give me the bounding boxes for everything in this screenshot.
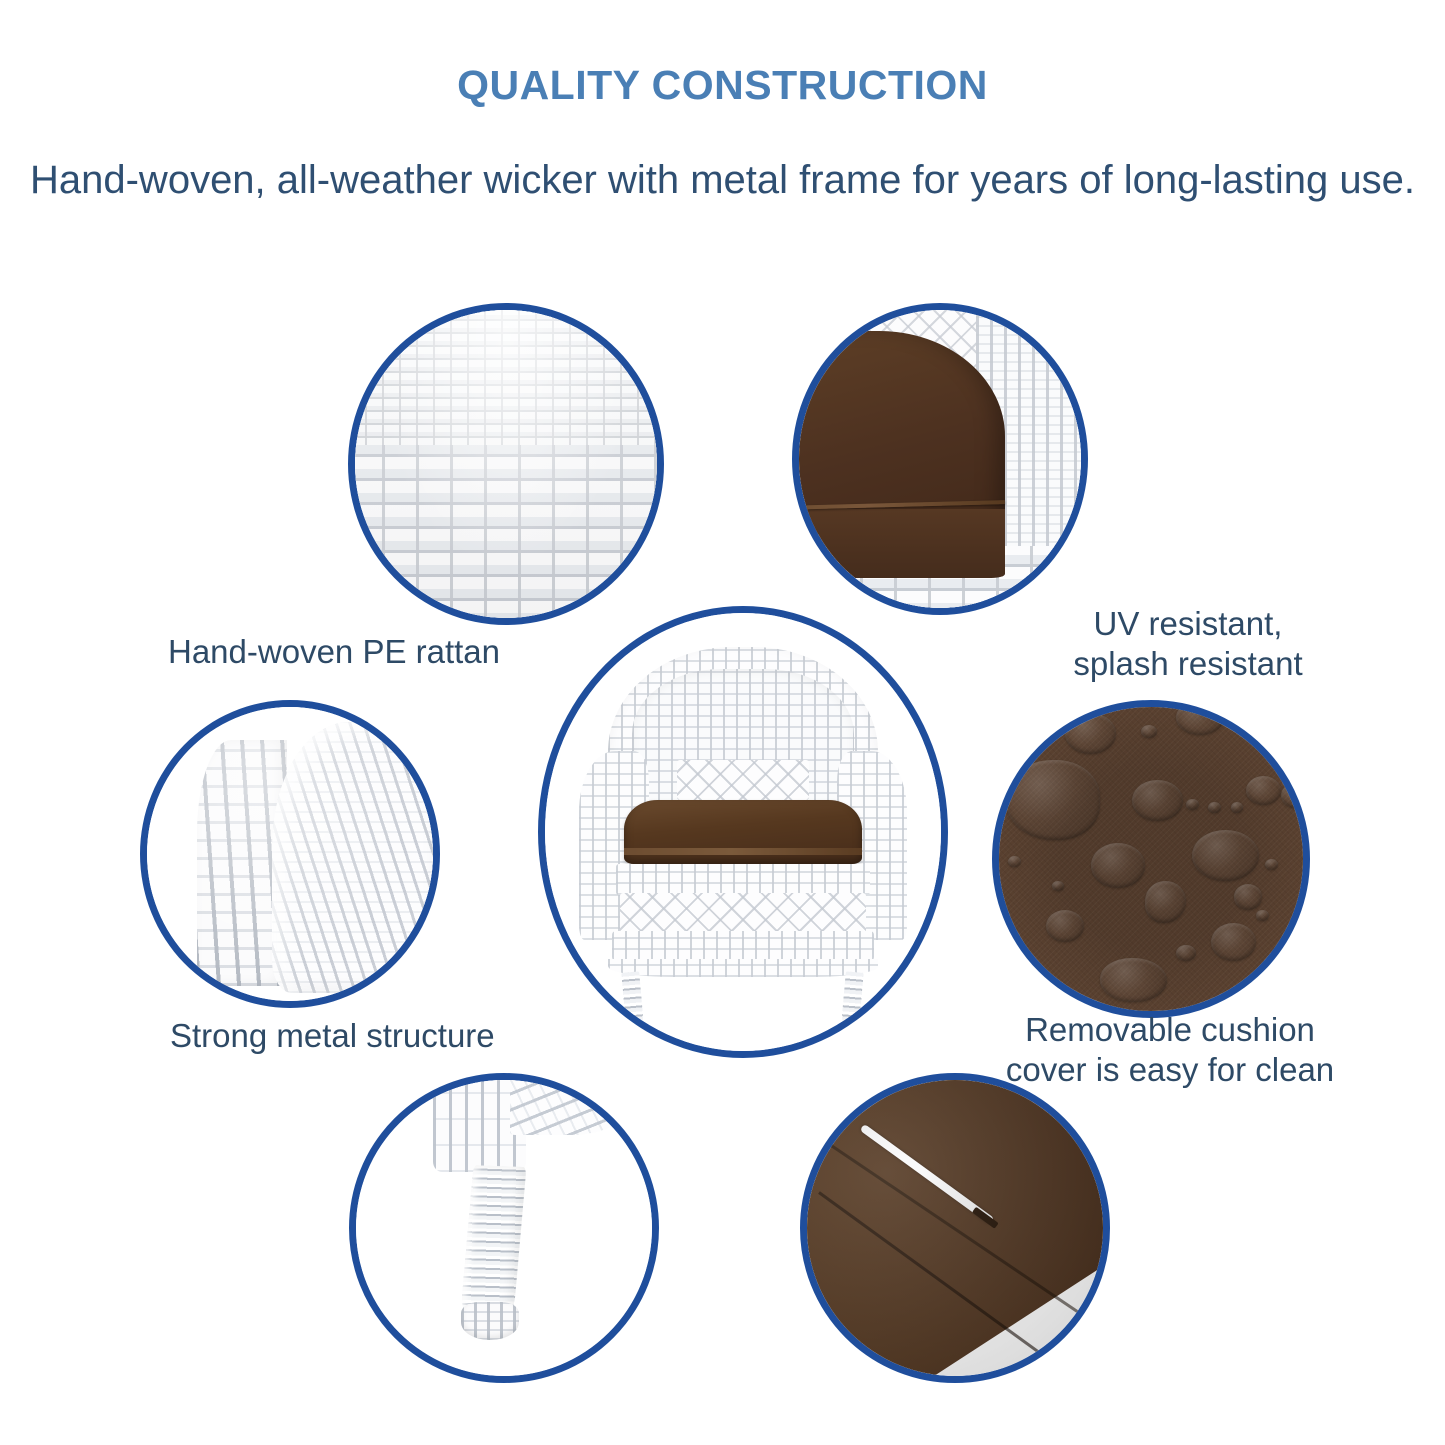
white-wicker-chair-leg-icon [349,1073,659,1383]
white-wicker-weave-closeup-icon [348,303,664,625]
caption-uv-splash-resistant: UV resistant, splash resistant [1043,604,1333,684]
feature-circle-removable-cushion-cover [992,700,1310,1018]
caption-removable-cushion-cover: Removable cushion cover is easy for clea… [1000,1010,1340,1090]
water-droplet [1176,945,1195,961]
white-wicker-corner-edge-icon [140,700,440,1008]
water-droplet [1065,713,1116,754]
page-subtitle: Hand-woven, all-weather wicker with meta… [0,158,1445,203]
water-droplet [1186,799,1199,810]
water-droplet [1005,760,1100,840]
water-droplet [1132,780,1183,821]
water-droplet [1046,910,1084,942]
infographic-page: QUALITY CONSTRUCTION Hand-woven, all-wea… [0,0,1445,1445]
brown-cushion-zipper-icon [800,1073,1110,1383]
feature-circle-uv-splash-resistant [792,303,1088,615]
water-droplet [1052,881,1063,891]
caption-strong-metal-structure: Strong metal structure [170,1016,495,1056]
water-droplet [1234,884,1263,909]
feature-circle-strong-metal-structure [140,700,440,1008]
water-droplet [1208,802,1221,813]
feature-circle-hand-woven-pe-rattan [348,303,664,625]
water-droplet [1281,783,1310,808]
white-wicker-armchair-with-brown-cushion-icon [538,606,948,1058]
caption-hand-woven-pe-rattan: Hand-woven PE rattan [168,632,500,672]
water-droplet [1231,802,1244,813]
page-title: QUALITY CONSTRUCTION [0,62,1445,109]
water-droplet [1008,856,1021,867]
brown-cushion-on-white-wicker-icon [792,303,1088,615]
feature-circle-cushion-zipper [800,1073,1110,1383]
water-droplet [1091,843,1145,888]
water-droplet [1100,958,1167,1003]
water-droplet [1176,700,1224,735]
water-droplet [1256,910,1269,921]
water-droplets-on-brown-fabric-icon [992,700,1310,1018]
water-droplet [1192,830,1259,881]
hero-circle-white-wicker-armchair [538,606,948,1058]
water-droplet [1211,923,1256,961]
feature-circle-wicker-chair-leg [349,1073,659,1383]
